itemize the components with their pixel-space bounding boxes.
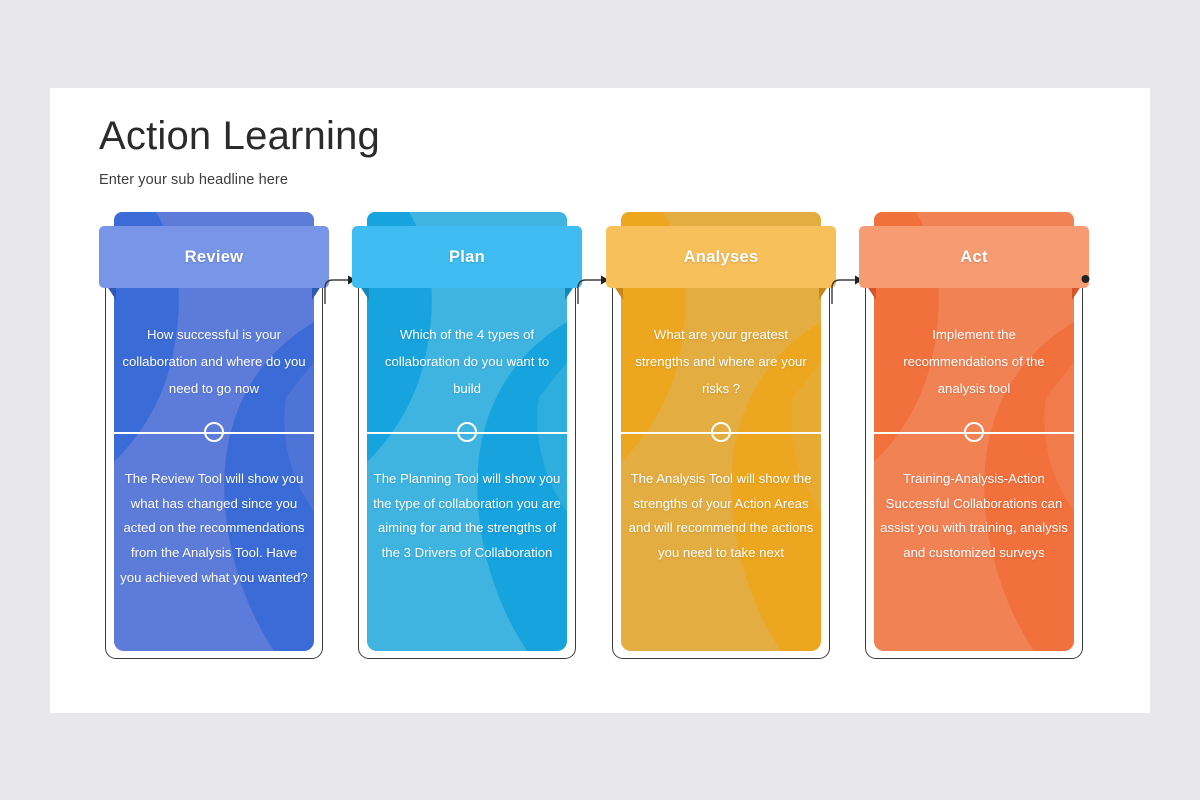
step-ribbon-banner[interactable]: Act: [859, 226, 1089, 288]
step-description-text: The Analysis Tool will show the strength…: [626, 467, 816, 566]
step-ribbon-banner[interactable]: Review: [99, 226, 329, 288]
page-title: Action Learning: [99, 113, 380, 159]
step-question-text: How successful is your collaboration and…: [121, 321, 307, 402]
circle-node-icon: [457, 422, 477, 442]
step-title-label: Review: [185, 248, 244, 267]
process-step-2[interactable]: PlanWhich of the 4 types of collaboratio…: [352, 212, 582, 662]
dot-icon: [1083, 274, 1103, 294]
step-title-label: Plan: [449, 248, 485, 267]
step-question-text: Which of the 4 types of collaboration do…: [374, 321, 560, 402]
slide-canvas: Action Learning Enter your sub headline …: [50, 88, 1150, 713]
process-step-4[interactable]: ActImplement the recommendations of the …: [859, 212, 1089, 662]
page-subtitle: Enter your sub headline here: [99, 172, 380, 188]
step-title-label: Act: [960, 248, 988, 267]
process-flow-diagram: ReviewHow successful is your collaborati…: [99, 212, 1103, 662]
step-question-text: Implement the recommendations of the ana…: [881, 321, 1067, 402]
step-question-text: What are your greatest strengths and whe…: [628, 321, 814, 402]
step-ribbon-banner[interactable]: Analyses: [606, 226, 836, 288]
heading-block: Action Learning Enter your sub headline …: [99, 113, 380, 188]
step-ribbon-banner[interactable]: Plan: [352, 226, 582, 288]
step-description-text: Training-Analysis-Action Successful Coll…: [879, 467, 1069, 566]
step-description-text: The Planning Tool will show you the type…: [372, 467, 562, 566]
circle-node-icon: [711, 422, 731, 442]
process-step-3[interactable]: AnalysesWhat are your greatest strengths…: [606, 212, 836, 662]
step-title-label: Analyses: [684, 248, 759, 267]
step-description-text: The Review Tool will show you what has c…: [119, 467, 309, 591]
process-step-1[interactable]: ReviewHow successful is your collaborati…: [99, 212, 329, 662]
circle-node-icon: [204, 422, 224, 442]
circle-node-icon: [964, 422, 984, 442]
